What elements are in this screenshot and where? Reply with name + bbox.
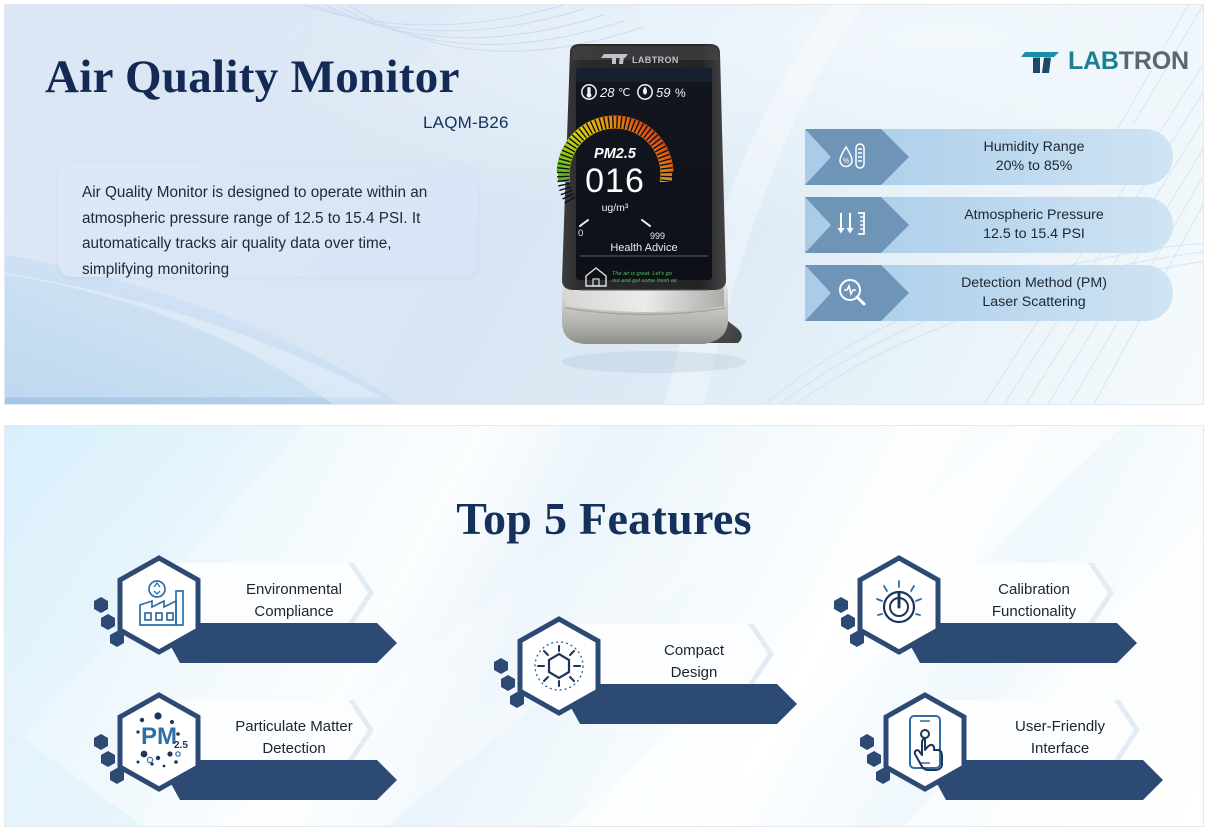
svg-text:59: 59 bbox=[656, 85, 670, 100]
svg-text:2.5: 2.5 bbox=[174, 740, 188, 751]
spec-row-humidity: % Humidity Range 20% to 85% bbox=[805, 129, 1173, 185]
feature-line1: Compact bbox=[664, 640, 724, 662]
spec-label: Atmospheric Pressure bbox=[964, 206, 1104, 225]
features-heading: Top 5 Features bbox=[0, 492, 1208, 545]
svg-text:ug/m³: ug/m³ bbox=[602, 202, 629, 214]
feature-compact-design[interactable]: Compact Design bbox=[492, 616, 797, 724]
magnifier-pulse-icon bbox=[831, 273, 873, 313]
factory-recycle-icon bbox=[114, 555, 204, 655]
svg-text:%: % bbox=[675, 86, 686, 100]
spec-value: 20% to 85% bbox=[996, 157, 1073, 176]
feature-label: Compact Design bbox=[610, 630, 778, 694]
svg-text:℃: ℃ bbox=[618, 87, 630, 99]
svg-text:The air is great. Let's go: The air is great. Let's go bbox=[612, 271, 672, 277]
logo-text-lab: LAB bbox=[1068, 47, 1119, 75]
feature-line2: Design bbox=[671, 662, 718, 684]
spec-label: Humidity Range bbox=[984, 138, 1085, 157]
spec-row-detection: Detection Method (PM) Laser Scattering bbox=[805, 265, 1173, 321]
compact-hexagon-icon bbox=[514, 616, 604, 716]
description-card: Air Quality Monitor is designed to opera… bbox=[58, 163, 478, 277]
feature-environmental-compliance[interactable]: Environmental Compliance bbox=[92, 555, 397, 663]
description-text: Air Quality Monitor is designed to opera… bbox=[82, 180, 454, 282]
feature-user-friendly-interface[interactable]: User-Friendly Interface bbox=[858, 692, 1163, 800]
svg-text:999: 999 bbox=[650, 231, 665, 241]
svg-text:LABTRON: LABTRON bbox=[632, 55, 679, 65]
spec-text: Humidity Range 20% to 85% bbox=[909, 129, 1159, 185]
touch-phone-hand-icon bbox=[880, 692, 970, 792]
svg-text:PM: PM bbox=[141, 723, 177, 750]
spec-row-pressure: Atmospheric Pressure 12.5 to 15.4 PSI bbox=[805, 197, 1173, 253]
pm25-particles-icon: PM 2.5 bbox=[114, 692, 204, 792]
svg-text:0: 0 bbox=[578, 228, 583, 239]
feature-line1: Environmental bbox=[246, 579, 342, 601]
feature-label: Particulate Matter Detection bbox=[210, 706, 378, 770]
svg-text:Health Advice: Health Advice bbox=[610, 242, 677, 254]
feature-line2: Detection bbox=[262, 738, 325, 760]
feature-label: Environmental Compliance bbox=[210, 569, 378, 633]
model-number: LAQM-B26 bbox=[423, 113, 509, 133]
labtron-double-t-mark bbox=[1021, 49, 1061, 75]
svg-text:%: % bbox=[843, 158, 849, 165]
feature-line1: Particulate Matter bbox=[235, 716, 353, 738]
feature-label: Calibration Functionality bbox=[950, 569, 1118, 633]
device-brand-mark: LABTRON bbox=[601, 54, 679, 65]
pressure-arrows-gauge-icon bbox=[831, 205, 873, 245]
feature-calibration-functionality[interactable]: Calibration Functionality bbox=[832, 555, 1137, 663]
spec-value: 12.5 to 15.4 PSI bbox=[983, 225, 1085, 244]
spec-text: Atmospheric Pressure 12.5 to 15.4 PSI bbox=[909, 197, 1159, 253]
svg-text:016: 016 bbox=[585, 162, 645, 200]
svg-text:28: 28 bbox=[599, 85, 615, 100]
spec-banner-list: % Humidity Range 20% to 85% bbox=[805, 129, 1173, 333]
labtron-logo: LABTRON bbox=[1021, 47, 1189, 76]
hygrometer-humidity-icon: % bbox=[831, 137, 873, 177]
feature-line1: Calibration bbox=[998, 579, 1070, 601]
spec-text: Detection Method (PM) Laser Scattering bbox=[909, 265, 1159, 321]
page-title: Air Quality Monitor bbox=[45, 50, 460, 104]
svg-text:out and get some fresh air.: out and get some fresh air. bbox=[612, 278, 678, 284]
feature-line1: User-Friendly bbox=[1015, 716, 1105, 738]
infographic-page: Air Quality Monitor LAQM-B26 Air Quality… bbox=[0, 0, 1208, 831]
device-image: LABTRON 28 ℃ 59 % bbox=[532, 40, 782, 380]
air-quality-monitor-device: LABTRON 28 ℃ 59 % bbox=[532, 40, 782, 380]
spec-value: Laser Scattering bbox=[982, 293, 1085, 312]
product-hero-panel: Air Quality Monitor LAQM-B26 Air Quality… bbox=[4, 4, 1204, 405]
svg-text:PM2.5: PM2.5 bbox=[594, 146, 637, 162]
feature-line2: Functionality bbox=[992, 601, 1076, 623]
feature-line2: Interface bbox=[1031, 738, 1089, 760]
logo-text-tron: TRON bbox=[1119, 47, 1189, 75]
feature-label: User-Friendly Interface bbox=[976, 706, 1144, 770]
feature-particulate-matter-detection[interactable]: PM 2.5 Particulate Matter Detection bbox=[92, 692, 397, 800]
feature-line2: Compliance bbox=[254, 601, 333, 623]
calibration-power-icon bbox=[854, 555, 944, 655]
spec-label: Detection Method (PM) bbox=[961, 274, 1107, 293]
